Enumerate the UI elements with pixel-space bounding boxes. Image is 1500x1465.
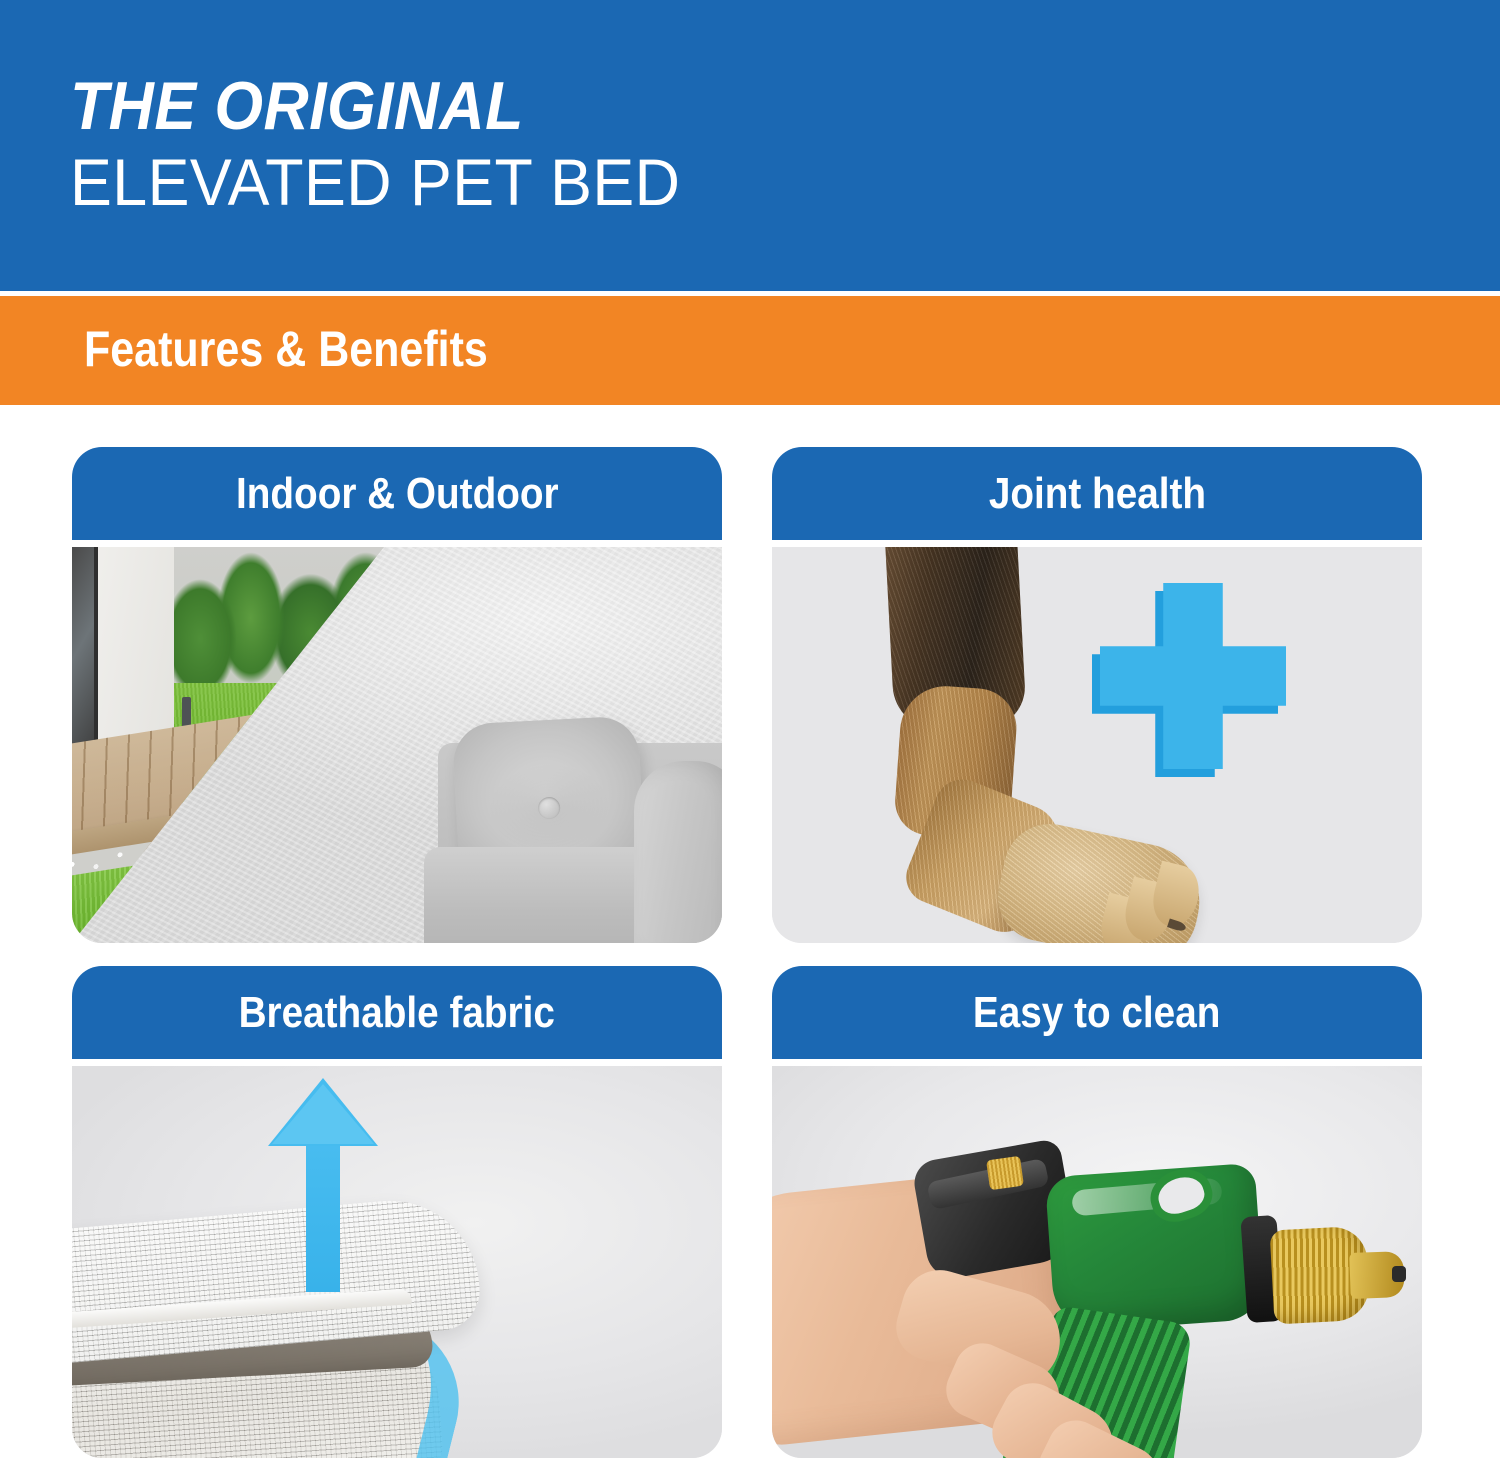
feature-card-title: Breathable fabric xyxy=(239,988,555,1038)
joint-health-scene xyxy=(772,547,1422,943)
easy-to-clean-scene xyxy=(772,1066,1422,1458)
section-band: Features & Benefits xyxy=(0,296,1500,405)
sofa-armrest xyxy=(634,761,722,943)
hero-title-line-2: ELEVATED PET BED xyxy=(70,144,1163,220)
feature-card-header: Indoor & Outdoor xyxy=(72,447,722,540)
hero-banner: THE ORIGINAL ELEVATED PET BED xyxy=(0,0,1500,291)
feature-card-grid: Indoor & Outdoor xyxy=(0,447,1500,1465)
brass-adjuster-screw xyxy=(986,1156,1024,1190)
feature-card-image-easy-to-clean xyxy=(772,1066,1422,1458)
feature-card-easy-to-clean: Easy to clean xyxy=(772,966,1422,1458)
feature-card-header: Breathable fabric xyxy=(72,966,722,1059)
feature-card-header: Joint health xyxy=(772,447,1422,540)
feature-card-joint-health: Joint health xyxy=(772,447,1422,943)
medical-cross-icon xyxy=(1100,583,1286,769)
feature-card-image-joint-health xyxy=(772,547,1422,943)
hero-title-block: THE ORIGINAL ELEVATED PET BED xyxy=(70,68,1220,220)
feature-card-header: Easy to clean xyxy=(772,966,1422,1059)
feature-card-breathable-fabric: Breathable fabric xyxy=(72,966,722,1458)
feature-card-title: Indoor & Outdoor xyxy=(236,469,559,519)
patio-door xyxy=(72,547,98,761)
section-band-title: Features & Benefits xyxy=(84,316,488,382)
nozzle-outlet xyxy=(1392,1266,1406,1282)
hero-title-line-1: THE ORIGINAL xyxy=(70,68,1128,144)
airflow-arrow-shaft-icon xyxy=(306,1136,340,1292)
indoor-outdoor-scene xyxy=(72,547,722,943)
breathable-fabric-scene xyxy=(72,1066,722,1458)
feature-card-indoor-outdoor: Indoor & Outdoor xyxy=(72,447,722,943)
medical-cross-group xyxy=(1100,583,1286,769)
feature-card-image-breathable-fabric xyxy=(72,1066,722,1458)
product-infographic: THE ORIGINAL ELEVATED PET BED Features &… xyxy=(0,0,1500,1465)
feature-card-title: Joint health xyxy=(988,469,1205,519)
feature-card-image-indoor-outdoor xyxy=(72,547,722,943)
feature-card-title: Easy to clean xyxy=(973,988,1221,1038)
